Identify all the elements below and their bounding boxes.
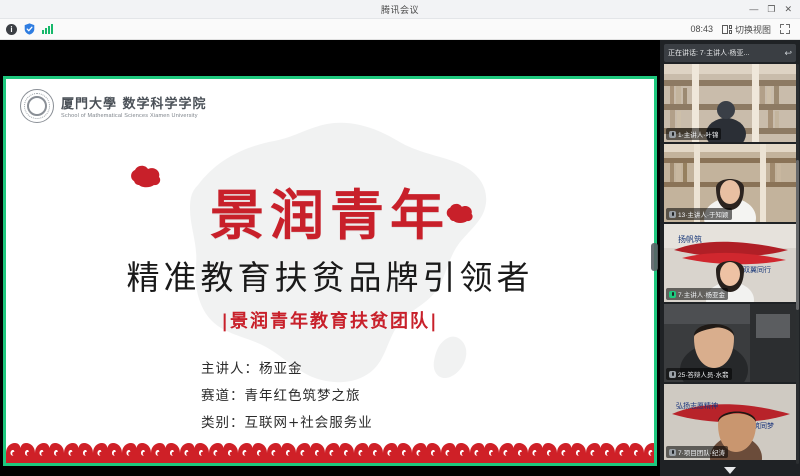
- slide-subtitle: 精准教育扶贫品牌引领者: [6, 251, 654, 299]
- meeting-timer: 08:43: [690, 24, 713, 34]
- university-text: 厦門大學 数学科学学院 School of Mathematical Scien…: [61, 93, 207, 119]
- maximize-icon[interactable]: ❐: [767, 5, 775, 14]
- active-speaker-label: 正在讲话: 7·主讲人·杨亚...: [668, 48, 781, 58]
- participant-name: 1·主讲人·叶锦: [678, 129, 718, 139]
- panel-resize-handle[interactable]: [651, 243, 658, 271]
- tile-label: 7·主讲人·杨亚金: [666, 288, 728, 300]
- minimize-icon[interactable]: —: [749, 5, 758, 14]
- tile-label: 1·主讲人·叶锦: [666, 128, 721, 140]
- signal-icon[interactable]: [42, 24, 53, 34]
- mic-off-icon: [669, 371, 676, 378]
- switch-view-label: 切换视图: [735, 23, 771, 36]
- shared-screen-stage: 厦門大學 数学科学学院 School of Mathematical Scien…: [0, 40, 660, 476]
- participant-name: 13·主讲人·于知颖: [678, 209, 729, 219]
- university-name-cn: 厦門大學 数学科学学院: [61, 93, 207, 112]
- switch-view-button[interactable]: 切换视图: [722, 23, 771, 36]
- close-icon[interactable]: ✕: [784, 5, 792, 14]
- presentation-slide: 厦門大學 数学科学学院 School of Mathematical Scien…: [6, 79, 654, 463]
- university-name-en: School of Mathematical Sciences Xiamen U…: [61, 113, 207, 119]
- slide-meta-category: 类别：互联网+社会服务业: [201, 411, 477, 431]
- toolbar-left-icons: i: [6, 23, 53, 35]
- sidebar-scrollbar-thumb[interactable]: [796, 160, 799, 310]
- tencent-meeting-window: 腾讯会议 — ❐ ✕ i 08:43: [0, 0, 800, 476]
- slide-bottom-ornament: [6, 435, 654, 463]
- slide-team-name: |景润青年教育扶贫团队|: [6, 307, 654, 333]
- mic-off-icon: [669, 131, 676, 138]
- chevron-down-icon: [724, 467, 736, 474]
- tile-label: 25·答辩人员·水翡: [666, 368, 732, 380]
- video-tile[interactable]: 1·主讲人·叶锦: [664, 64, 796, 142]
- grid-icon: [722, 25, 732, 34]
- video-tile[interactable]: 25·答辩人员·水翡: [664, 304, 796, 382]
- svg-text:扬帆筑: 扬帆筑: [678, 234, 702, 244]
- active-speaker-banner: 正在讲话: 7·主讲人·杨亚... ↩: [664, 44, 796, 62]
- university-logo: 厦門大學 数学科学学院 School of Mathematical Scien…: [20, 89, 207, 123]
- tile-label: 13·主讲人·于知颖: [666, 208, 732, 220]
- video-tile[interactable]: 弘扬志愿精神 学筑同梦 7·项目团队·纪涛: [664, 384, 796, 460]
- shield-icon[interactable]: [24, 23, 35, 35]
- video-tile[interactable]: 13·主讲人·于知颖: [664, 144, 796, 222]
- tile-label: 7·项目团队·纪涛: [666, 446, 728, 458]
- participant-video-sidebar: 正在讲话: 7·主讲人·杨亚... ↩: [660, 40, 800, 476]
- shared-content-frame[interactable]: 厦門大學 数学科学学院 School of Mathematical Scien…: [3, 76, 657, 466]
- slide-meta-track: 赛道：青年红色筑梦之旅: [201, 384, 477, 404]
- title-bar: 腾讯会议 — ❐ ✕: [0, 0, 800, 19]
- window-title: 腾讯会议: [0, 3, 800, 16]
- toolbar-right-controls: 08:43 切换视图: [690, 23, 794, 36]
- participant-name: 7·主讲人·杨亚金: [678, 289, 725, 299]
- scroll-down-button[interactable]: [660, 467, 800, 474]
- video-tile-list: 1·主讲人·叶锦: [660, 64, 800, 460]
- xiamen-university-seal-icon: [20, 89, 54, 123]
- participant-name: 25·答辩人员·水翡: [678, 369, 729, 379]
- mic-on-icon: [669, 291, 676, 298]
- slide-main-title: 景润青年: [6, 171, 654, 250]
- info-icon[interactable]: i: [6, 24, 17, 35]
- svg-text:弘扬志愿精神: 弘扬志愿精神: [676, 401, 718, 410]
- back-arrow-icon[interactable]: ↩: [784, 48, 792, 59]
- meeting-toolbar: i 08:43 切换视图: [0, 19, 800, 40]
- mic-off-icon: [669, 211, 676, 218]
- participant-name: 7·项目团队·纪涛: [678, 447, 725, 457]
- video-tile-active-speaker[interactable]: 扬帆筑 数双翼同行 7·主讲人·杨亚金: [664, 224, 796, 302]
- window-controls: — ❐ ✕: [749, 0, 796, 19]
- mic-off-icon: [669, 449, 676, 456]
- slide-meta-speaker: 主讲人：杨亚金: [201, 357, 477, 377]
- fullscreen-icon[interactable]: [780, 24, 790, 34]
- cloud-band-pattern-icon: [6, 441, 654, 463]
